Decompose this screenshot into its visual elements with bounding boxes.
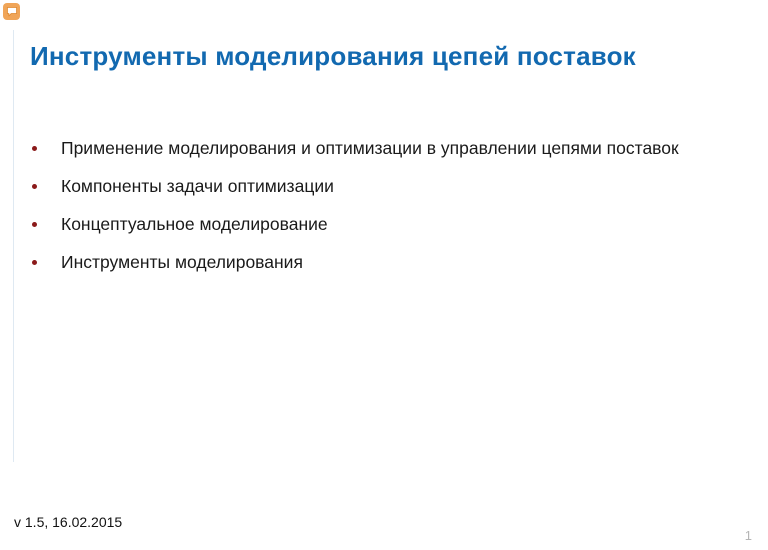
list-item-label: Инструменты моделирования <box>61 252 303 272</box>
list-item: Применение моделирования и оптимизации в… <box>28 136 728 161</box>
bullet-marker-icon <box>32 260 37 265</box>
list-item-label: Концептуальное моделирование <box>61 214 328 234</box>
list-item: Компоненты задачи оптимизации <box>28 174 728 199</box>
list-item-label: Компоненты задачи оптимизации <box>61 176 334 196</box>
bullet-marker-icon <box>32 222 37 227</box>
speech-bubble-icon <box>3 3 20 20</box>
presentation-slide: Инструменты моделирования цепей поставок… <box>0 0 768 550</box>
bullet-marker-icon <box>32 184 37 189</box>
page-number: 1 <box>745 528 752 543</box>
bullet-list: Применение моделирования и оптимизации в… <box>28 136 728 275</box>
page-title: Инструменты моделирования цепей поставок <box>30 40 720 72</box>
list-item-label: Применение моделирования и оптимизации в… <box>61 138 679 158</box>
bullet-marker-icon <box>32 146 37 151</box>
list-item: Инструменты моделирования <box>28 250 728 275</box>
list-item: Концептуальное моделирование <box>28 212 728 237</box>
version-footer: v 1.5, 16.02.2015 <box>14 514 122 530</box>
left-decorative-rule <box>13 30 14 462</box>
